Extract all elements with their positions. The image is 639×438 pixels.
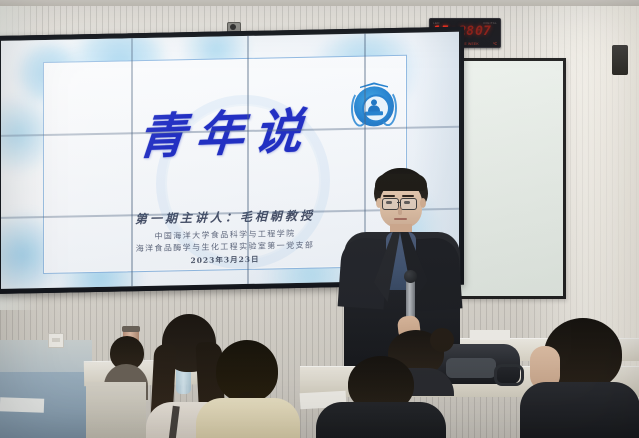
presenter-brow-right bbox=[402, 195, 414, 197]
presenter-nose bbox=[398, 206, 402, 215]
presenter-fringe bbox=[375, 174, 427, 191]
clock-footer-right: ℃ bbox=[493, 42, 497, 46]
glasses-bridge bbox=[397, 202, 401, 203]
ceiling-edge bbox=[0, 0, 639, 6]
wall-socket bbox=[48, 333, 64, 348]
microphone-head bbox=[404, 270, 417, 283]
audience-body bbox=[520, 382, 639, 438]
desk-front-panel bbox=[86, 382, 146, 438]
clock-seconds: 07 bbox=[475, 25, 491, 38]
panel-seam-vertical bbox=[247, 36, 249, 284]
camera-lens bbox=[230, 24, 236, 30]
wall-speaker bbox=[612, 45, 628, 75]
screenshot-root: LED DIGITAL 15 : 28 07 TEMP DATE WEEK ℃ bbox=[0, 0, 639, 438]
audience-member bbox=[520, 318, 639, 438]
glasses-icon bbox=[400, 198, 417, 210]
audience-member bbox=[316, 356, 446, 438]
audience-hair-bun bbox=[430, 328, 454, 352]
audience-body bbox=[316, 402, 446, 438]
panel-seam-vertical bbox=[131, 38, 133, 286]
emblem-book-icon bbox=[365, 111, 383, 115]
presenter-ear-right bbox=[420, 198, 426, 208]
audience-member bbox=[196, 340, 300, 438]
university-emblem-icon bbox=[350, 80, 398, 129]
cup-lid bbox=[122, 326, 140, 332]
paper-on-desk bbox=[0, 397, 44, 413]
paper-on-desk bbox=[470, 330, 510, 340]
presenter-brow-left bbox=[383, 195, 395, 197]
audience-body bbox=[196, 398, 300, 438]
glasses-icon bbox=[382, 198, 399, 210]
